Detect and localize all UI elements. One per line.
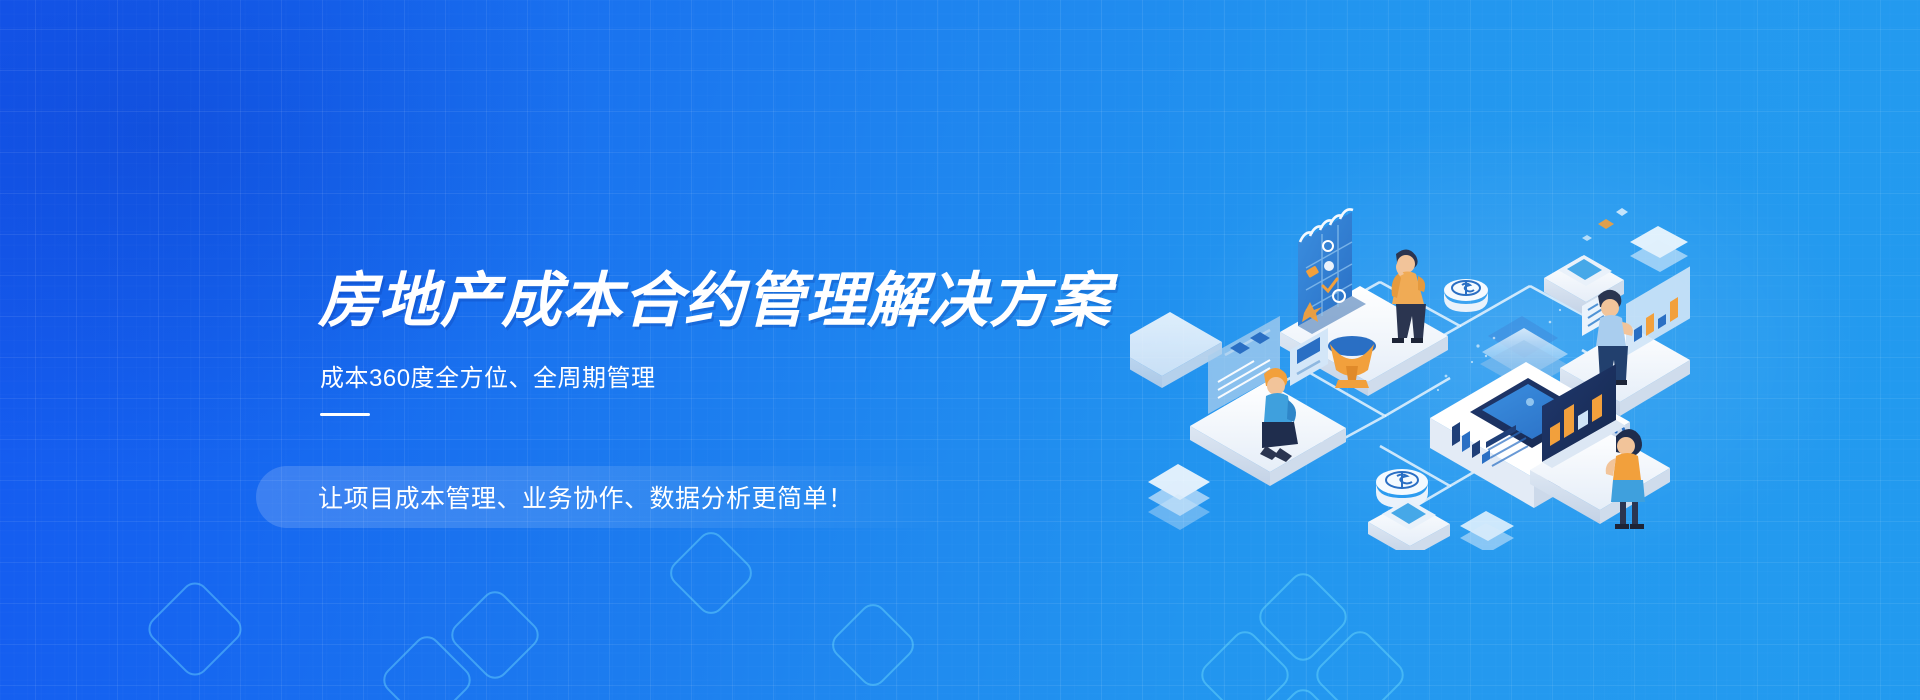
- tagline-pill: 让项目成本管理、业务协作、数据分析更简单！: [256, 466, 1016, 528]
- stacked-sheets: [1630, 226, 1688, 272]
- diamond-cluster-left: [1196, 626, 1295, 700]
- isometric-cost-management-illustration: [1130, 150, 1690, 550]
- hero-banner: 房地产成本合约管理解决方案 成本360度全方位、全周期管理 让项目成本管理、业务…: [0, 0, 1920, 700]
- title-divider: [320, 413, 370, 416]
- floating-platform: [1368, 499, 1450, 550]
- diamond-center: [664, 526, 757, 619]
- coin-stack: [1376, 469, 1428, 508]
- page-title: 房地产成本合约管理解决方案: [318, 270, 1078, 332]
- tagline-text: 让项目成本管理、业务协作、数据分析更简单！: [318, 479, 854, 515]
- page-subtitle: 成本360度全方位、全周期管理: [320, 358, 1078, 393]
- diamond-left-lower: [143, 577, 248, 682]
- diamond-mid-b: [378, 631, 477, 700]
- stacked-sheets: [1460, 511, 1514, 550]
- diamond-cluster-right: [1311, 626, 1410, 700]
- stacked-sheets: [1148, 464, 1210, 530]
- diamond-cluster-bottom: [1254, 684, 1353, 700]
- diamond-mid-a: [446, 586, 545, 685]
- confetti-bits: [1582, 208, 1628, 241]
- hero-copy: 房地产成本合约管理解决方案 成本360度全方位、全周期管理 让项目成本管理、业务…: [318, 270, 1078, 416]
- coin-stack: [1444, 279, 1488, 312]
- diamond-cluster-top: [1254, 568, 1353, 667]
- diamond-right-a: [826, 598, 919, 691]
